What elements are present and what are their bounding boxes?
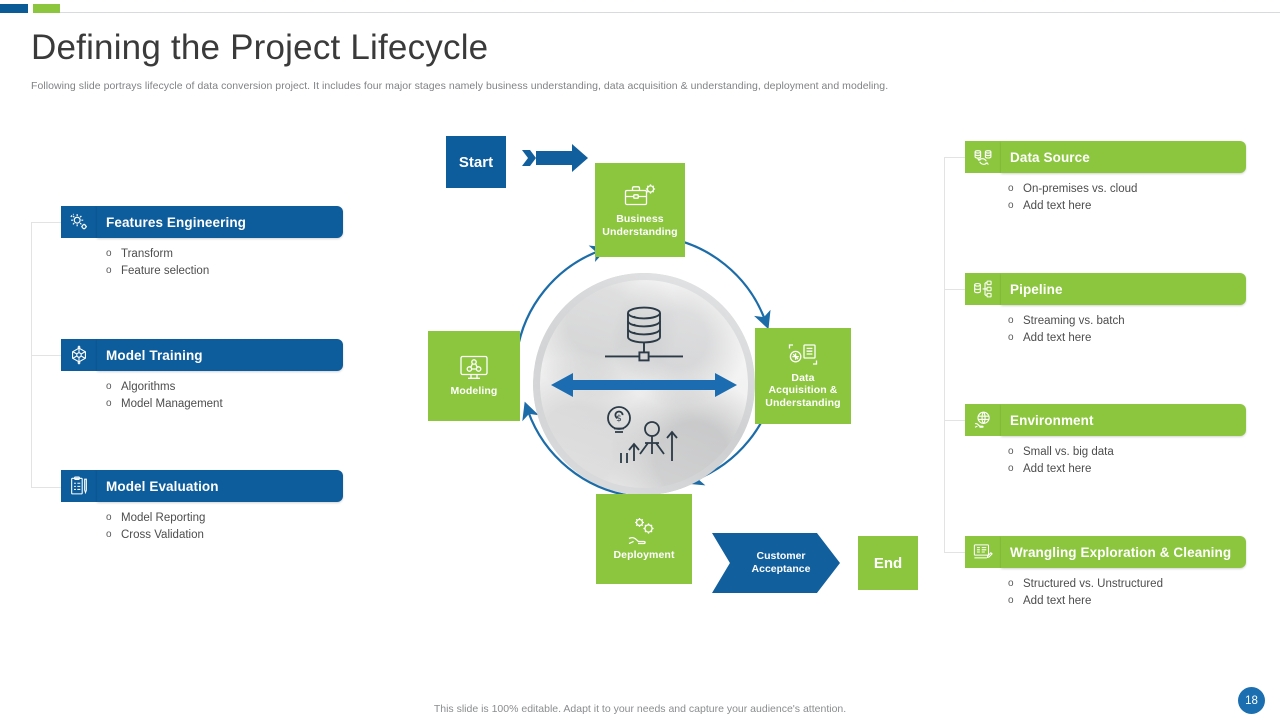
environment-bullets: Small vs. big data Add text here [1006,444,1114,477]
sidebar-item-model-evaluation[interactable]: Model Evaluation [61,470,343,502]
cycle-node-business-understanding[interactable]: Business Understanding [595,163,685,257]
database-sync-icon [965,141,1001,173]
sidebar-item-label-wrap: Environment [1001,404,1246,436]
cycle-node-modeling[interactable]: Modeling [428,331,520,421]
cycle-node-data-acquisition-understanding[interactable]: Data Acquisition & Understanding [755,328,851,424]
sidebar-item-label-wrap: Model Training [97,339,343,371]
list-item: Streaming vs. batch [1006,313,1125,330]
features-engineering-bullets: Transform Feature selection [104,246,209,279]
list-item: Model Reporting [104,510,205,527]
clipboard-checklist-icon [61,470,97,502]
database-network-icon [595,303,693,373]
data-cleaning-icon [965,536,1001,568]
list-item: On-premises vs. cloud [1006,181,1137,198]
list-item: Add text here [1006,330,1125,347]
right-rail-stub-4 [944,552,965,553]
pipeline-bullets: Streaming vs. batch Add text here [1006,313,1125,346]
top-accent-green-bar [33,4,60,13]
page-subtitle: Following slide portrays lifecycle of da… [31,80,1131,92]
left-rail-stub-1 [31,222,61,223]
sidebar-item-environment[interactable]: Environment [965,404,1246,436]
end-node[interactable]: End [858,536,918,590]
list-item: Add text here [1006,198,1137,215]
right-rail-stub-2 [944,289,965,290]
sidebar-item-wrangling-exploration-cleaning[interactable]: Wrangling Exploration & Cleaning [965,536,1246,568]
list-item: Small vs. big data [1006,444,1114,461]
page-title: Defining the Project Lifecycle [31,28,488,68]
double-headed-arrow-icon [551,371,737,399]
page-number-badge: 18 [1238,687,1265,714]
sidebar-item-label-wrap: Features Engineering [97,206,343,238]
gear-settings-icon [61,206,97,238]
list-item: Cross Validation [104,527,205,544]
sidebar-item-label-wrap: Model Evaluation [97,470,343,502]
data-source-bullets: On-premises vs. cloud Add text here [1006,181,1137,214]
cycle-node-deployment[interactable]: Deployment [596,494,692,584]
sidebar-item-model-training[interactable]: Model Training [61,339,343,371]
monitor-network-icon [458,354,490,382]
sidebar-item-label: Pipeline [1010,282,1063,297]
sidebar-item-pipeline[interactable]: Pipeline [965,273,1246,305]
header-divider [60,12,1280,13]
globe-hand-icon [965,404,1001,436]
sidebar-item-data-source[interactable]: Data Source [965,141,1246,173]
footer-note: This slide is 100% editable. Adapt it to… [0,703,1280,715]
cycle-node-label: Business Understanding [602,213,677,238]
start-arrow-icon [522,142,594,178]
right-rail-stub-1 [944,157,965,158]
list-item: Model Management [104,396,223,413]
model-training-bullets: Algorithms Model Management [104,379,223,412]
wrangling-bullets: Structured vs. Unstructured Add text her… [1006,576,1163,609]
cycle-node-label: Data Acquisition & Understanding [765,372,840,410]
top-accent-blue-bar [0,4,28,13]
end-label: End [874,555,902,572]
svg-text:$: $ [616,414,622,424]
network-node-icon [61,339,97,371]
sidebar-item-label: Environment [1010,413,1094,428]
center-illustration: $ [533,273,755,495]
sidebar-item-label-wrap: Wrangling Exploration & Cleaning [1001,536,1246,568]
customer-acceptance-node[interactable]: Customer Acceptance [712,533,840,593]
document-scan-icon [787,343,819,369]
database-pipeline-icon [965,273,1001,305]
sidebar-item-features-engineering[interactable]: Features Engineering [61,206,343,238]
start-label: Start [459,154,493,171]
sidebar-item-label: Data Source [1010,150,1090,165]
right-rail-stub-3 [944,420,965,421]
sidebar-item-label: Model Evaluation [106,479,219,494]
briefcase-gear-icon [623,182,657,210]
slide-canvas: Defining the Project Lifecycle Following… [0,0,1280,720]
list-item: Add text here [1006,461,1114,478]
list-item: Transform [104,246,209,263]
model-evaluation-bullets: Model Reporting Cross Validation [104,510,205,543]
list-item: Add text here [1006,593,1163,610]
hand-gears-icon [627,516,661,546]
sidebar-item-label-wrap: Data Source [1001,141,1246,173]
person-lightbulb-growth-icon: $ [597,401,693,473]
list-item: Algorithms [104,379,223,396]
cycle-node-label: Modeling [451,385,498,398]
left-rail-stub-3 [31,487,61,488]
right-rail-vertical [944,157,945,553]
list-item: Feature selection [104,263,209,280]
list-item: Structured vs. Unstructured [1006,576,1163,593]
sidebar-item-label: Wrangling Exploration & Cleaning [1010,545,1231,560]
sidebar-item-label: Model Training [106,348,203,363]
start-node[interactable]: Start [446,136,506,188]
sidebar-item-label: Features Engineering [106,215,246,230]
sidebar-item-label-wrap: Pipeline [1001,273,1246,305]
customer-acceptance-label: Customer Acceptance [752,550,811,576]
cycle-node-label: Deployment [613,549,674,562]
left-rail-stub-2 [31,355,61,356]
